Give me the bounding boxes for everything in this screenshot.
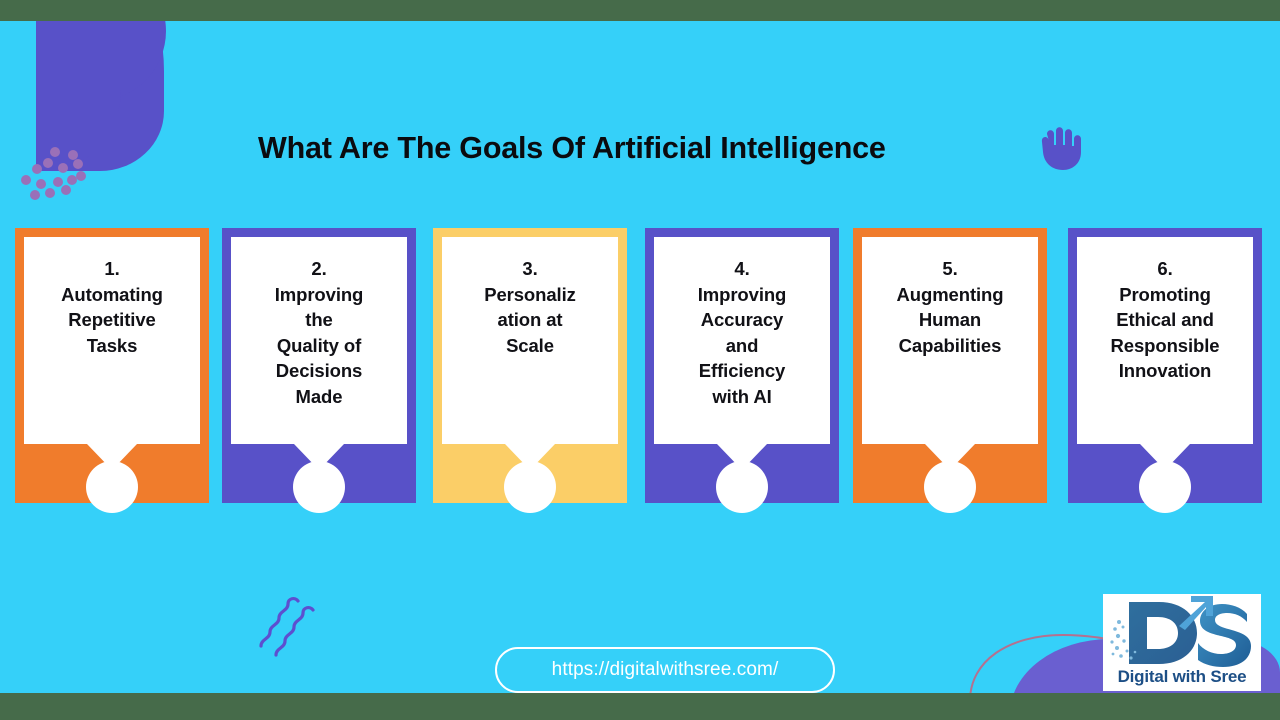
letterbox-top: [0, 0, 1280, 21]
card-bullet-circle: [1139, 461, 1191, 513]
hand-wave-icon: [1036, 125, 1088, 176]
slide-content-area: What Are The Goals Of Artificial Intelli…: [0, 21, 1280, 693]
logo-mark-icon: [1109, 596, 1257, 675]
dot-decoration: [43, 158, 53, 168]
dot-decoration: [61, 185, 71, 195]
card-label: 1. Automating Repetitive Tasks: [24, 256, 200, 358]
wavy-line-decoration: [258, 591, 338, 666]
card-personalization-at-scale[interactable]: 3. Personaliz ation at Scale: [433, 228, 627, 503]
dot-decoration: [36, 179, 46, 189]
card-bullet-circle: [716, 461, 768, 513]
website-url-pill[interactable]: https://digitalwithsree.com/: [495, 647, 835, 693]
card-label: 6. Promoting Ethical and Responsible Inn…: [1077, 256, 1253, 384]
cards-row: 1. Automating Repetitive Tasks2. Improvi…: [0, 228, 1280, 528]
dot-decoration: [76, 171, 86, 181]
dot-decoration: [30, 190, 40, 200]
card-label: 4. Improving Accuracy and Efficiency wit…: [654, 256, 830, 410]
card-bullet-circle: [924, 461, 976, 513]
brand-logo[interactable]: Digital with Sree: [1103, 594, 1261, 691]
card-automating-repetitive-tasks[interactable]: 1. Automating Repetitive Tasks: [15, 228, 209, 503]
dot-decoration: [45, 188, 55, 198]
dot-decoration: [73, 159, 83, 169]
dot-decoration: [58, 163, 68, 173]
card-promoting-ethical-innovation[interactable]: 6. Promoting Ethical and Responsible Inn…: [1068, 228, 1262, 503]
card-label: 5. Augmenting Human Capabilities: [862, 256, 1038, 358]
card-augmenting-human-capabilities[interactable]: 5. Augmenting Human Capabilities: [853, 228, 1047, 503]
dot-decoration: [21, 175, 31, 185]
logo-caption: Digital with Sree: [1103, 667, 1261, 687]
website-url-text: https://digitalwithsree.com/: [552, 659, 779, 681]
dot-cluster-decoration: [20, 147, 130, 217]
card-label: 3. Personaliz ation at Scale: [442, 256, 618, 358]
dot-decoration: [50, 147, 60, 157]
page-title: What Are The Goals Of Artificial Intelli…: [258, 126, 1038, 170]
card-bullet-circle: [86, 461, 138, 513]
dot-decoration: [32, 164, 42, 174]
card-improving-accuracy-efficiency[interactable]: 4. Improving Accuracy and Efficiency wit…: [645, 228, 839, 503]
card-label: 2. Improving the Quality of Decisions Ma…: [231, 256, 407, 410]
card-bullet-circle: [504, 461, 556, 513]
letterbox-bottom: [0, 693, 1280, 720]
card-improving-quality-of-decisions[interactable]: 2. Improving the Quality of Decisions Ma…: [222, 228, 416, 503]
card-bullet-circle: [293, 461, 345, 513]
slide-canvas: What Are The Goals Of Artificial Intelli…: [0, 0, 1280, 720]
